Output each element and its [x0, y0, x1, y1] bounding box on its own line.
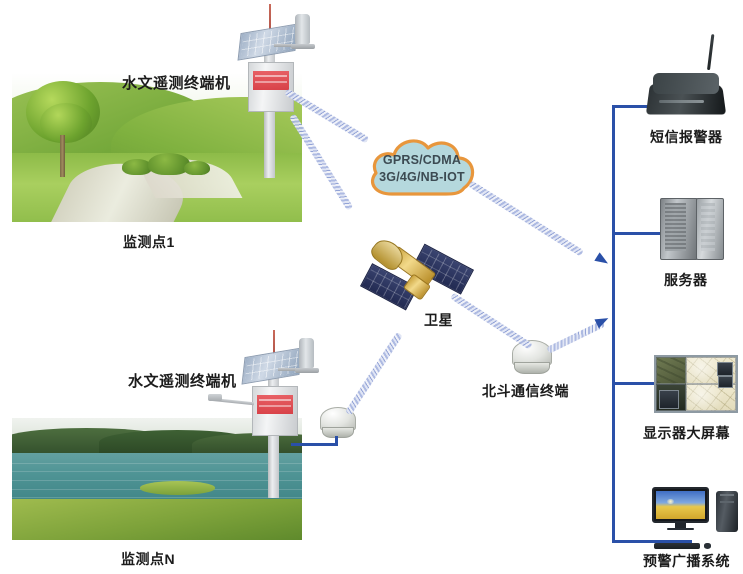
device-label-video-wall: 显示器大屏幕	[643, 423, 730, 443]
satellite-label: 卫星	[424, 310, 453, 330]
radio-link-cloud-to-center	[468, 181, 584, 257]
video-wall-inset	[718, 376, 733, 388]
satellite-icon	[358, 238, 474, 322]
arrow-cloud-to-center	[594, 252, 610, 267]
bush-icon	[184, 161, 210, 175]
rain-gauge-icon	[299, 338, 314, 368]
device-label-server: 服务器	[664, 270, 708, 290]
network-topology-diagram: 水文遥测终端机 监测点1 水文遥测终端机 监测点N	[0, 0, 743, 574]
cabinet-label	[257, 395, 294, 414]
site-n-caption: 监测点N	[121, 549, 175, 569]
islet-shape	[140, 481, 215, 494]
site-1-equipment-label: 水文遥测终端机	[122, 72, 231, 93]
cloud-label-line1: GPRS/CDMA	[383, 152, 461, 169]
keyboard-icon	[654, 543, 700, 549]
desktop-pc-icon	[652, 487, 738, 549]
solar-panel-icon	[238, 23, 299, 60]
pc-tower-icon	[716, 491, 738, 532]
router-icon	[648, 64, 724, 114]
site-1-caption: 监测点1	[123, 232, 175, 252]
beidou-terminal-label: 北斗通信终端	[482, 381, 569, 401]
site-n-cable	[335, 436, 338, 445]
video-wall-inset	[659, 390, 679, 408]
shoreline	[12, 499, 302, 540]
bush-icon	[148, 153, 190, 175]
monitor-icon	[652, 487, 709, 523]
sensor-arm	[208, 394, 222, 401]
cabinet-label	[253, 71, 290, 90]
site-n-cable	[291, 443, 338, 446]
video-wall-inset	[717, 362, 733, 376]
video-wall-icon	[654, 355, 738, 413]
mouse-icon	[704, 543, 712, 549]
cellular-network-cloud: GPRS/CDMA 3G/4G/NB-IOT	[362, 130, 482, 202]
site-n-equipment-label: 水文遥测终端机	[128, 370, 237, 391]
cloud-label-line2: 3G/4G/NB-IOT	[379, 169, 465, 186]
device-label-sms-alarm: 短信报警器	[650, 127, 723, 147]
arrow-beidou-to-center	[594, 314, 610, 329]
tree-icon	[24, 81, 102, 177]
rain-gauge-icon	[295, 14, 310, 44]
server-icon	[660, 198, 722, 258]
control-cabinet-icon	[248, 62, 294, 112]
radio-link-siten-to-satellite	[345, 332, 403, 415]
center-bus-vertical	[612, 105, 615, 543]
control-cabinet-icon	[252, 386, 298, 436]
antenna-icon	[707, 34, 714, 70]
solar-panel-icon	[242, 347, 303, 384]
device-label-broadcast-pc: 预警广播系统	[643, 551, 730, 571]
